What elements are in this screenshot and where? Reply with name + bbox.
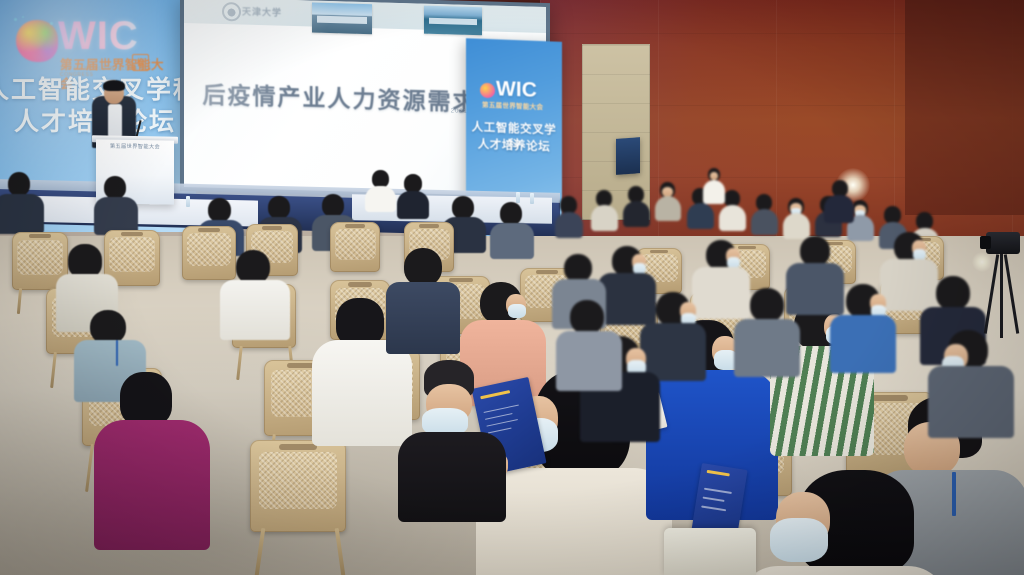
wic-sparkle-icon: [22, 16, 24, 18]
wic-wordmark: WIC: [58, 14, 139, 59]
banquet-chair: [182, 226, 236, 280]
banner-wic-subtitle-cn: 第五届世界智能大会: [482, 99, 543, 111]
wic-sparkle-icon: [14, 18, 17, 21]
university-logo-icon: [222, 2, 241, 22]
wic-logo: WIC 第五届世界智能大会 THE 5th WORLD INTELLIGENCE…: [14, 16, 174, 72]
water-bottle: [186, 196, 190, 207]
stage-monitor-speaker: [616, 137, 640, 175]
water-bottle: [516, 192, 520, 203]
speaker-hair: [103, 80, 125, 91]
banquet-chair: [330, 222, 380, 272]
water-bottle: [530, 193, 534, 204]
camera-flash: [972, 252, 992, 272]
slide-photo-thumbnail: [424, 6, 482, 36]
wic-badge: 标: [132, 54, 149, 71]
tote-bag: [664, 528, 756, 575]
wic-head-icon: [16, 20, 58, 62]
wic-sparkle-icon: [50, 22, 53, 25]
conference-hall-photo: WIC 第五届世界智能大会 THE 5th WORLD INTELLIGENCE…: [0, 0, 1024, 575]
wall-right-dark: [905, 0, 1024, 215]
speaker-shirt: [108, 104, 122, 138]
slide-photo-thumbnail: [312, 3, 372, 35]
university-name: 天津大学: [242, 5, 282, 19]
banner-line-2: 人才培养论坛: [466, 135, 562, 155]
podium-front-text: 第五届世界智能大会: [96, 142, 174, 150]
wic-subtitle-en: THE 5th WORLD INTELLIGENCE CONGRESS: [60, 66, 174, 78]
banner-wic-head-icon: [480, 83, 495, 99]
banquet-chair: [250, 440, 346, 532]
